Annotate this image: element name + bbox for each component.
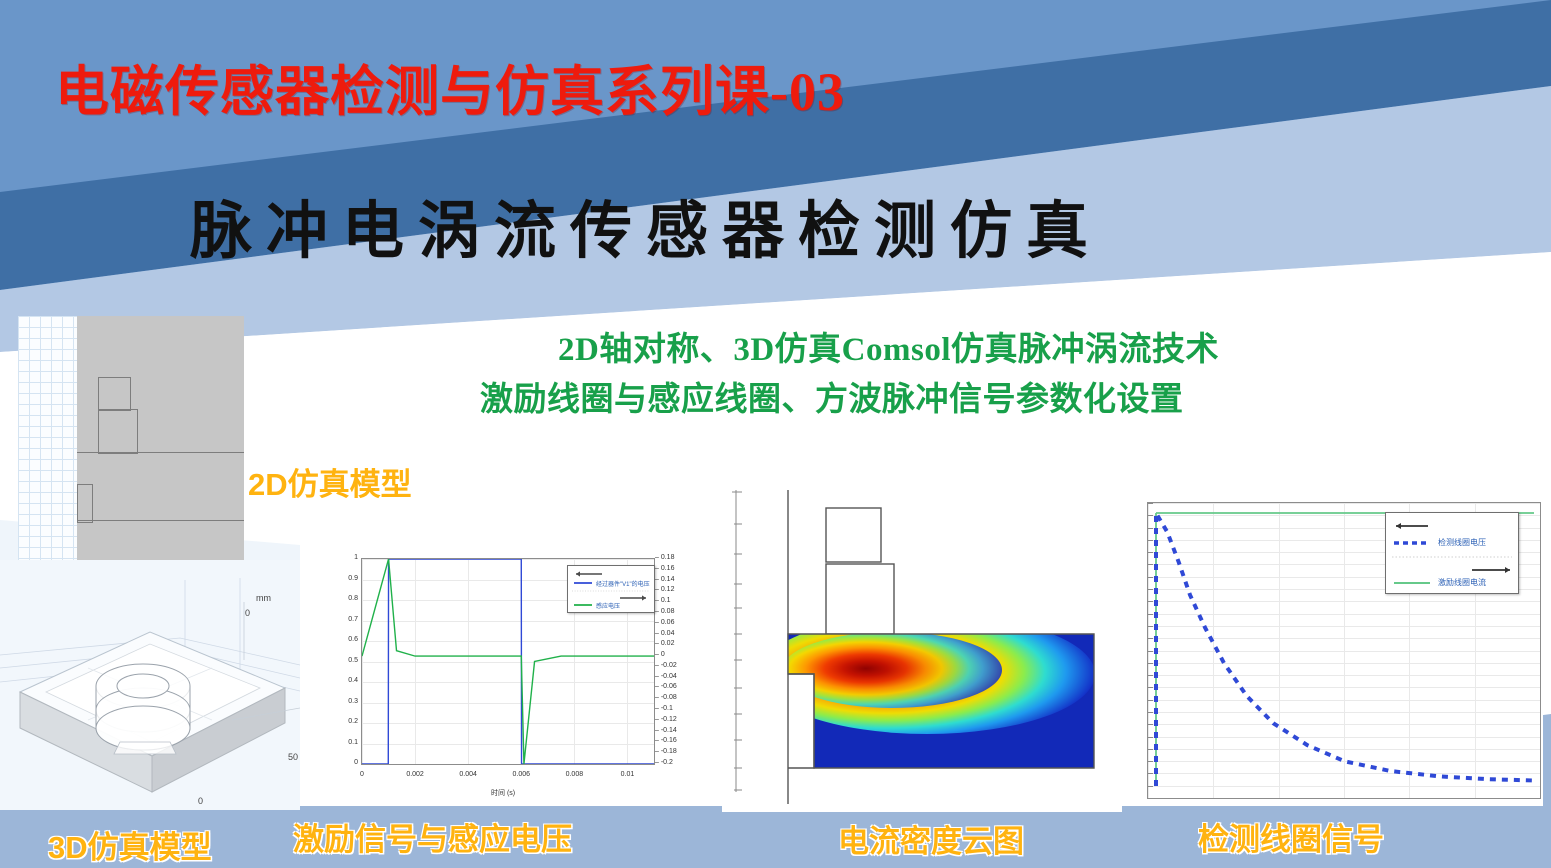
- chart-detection-coil: 检测线圈电压 激励线圈电流: [1133, 496, 1543, 806]
- excitation-legend-label-v1: 经过器件"V1"的电压: [596, 579, 650, 588]
- excitation-right-ytick: – 0.12: [655, 586, 674, 593]
- excitation-right-ytick: – 0.16: [655, 565, 674, 572]
- excitation-xtick: 0.008: [564, 771, 584, 778]
- gridline-vertical: [1540, 503, 1541, 798]
- excitation-right-ytick: – 0.1: [655, 597, 671, 604]
- gridline-horizontal: [362, 764, 654, 765]
- caption-2d-model: 2D仿真模型: [248, 459, 412, 504]
- excitation-right-ytick: – -0.1: [655, 705, 673, 712]
- coil-box-upper: [98, 377, 131, 411]
- excitation-left-ytick: 0.8: [337, 595, 358, 602]
- axis-unit-label-mm: mm: [256, 593, 271, 603]
- panel-2d-model: [18, 316, 244, 562]
- axis-tick-bottom-0: 0: [198, 796, 203, 806]
- excitation-right-ytick: – 0: [655, 651, 665, 658]
- detection-legend-label-voltage: 检测线圈电压: [1438, 537, 1486, 548]
- excitation-xaxis-label: 时间 (s): [491, 788, 515, 798]
- excitation-left-ytick: 0.6: [337, 636, 358, 643]
- axis-tick-top-0: 0: [245, 608, 250, 618]
- excitation-right-ytick: – -0.14: [655, 727, 677, 734]
- excitation-legend: 经过器件"V1"的电压 感应电压: [567, 565, 655, 613]
- excitation-right-ytick: – 0.04: [655, 630, 674, 637]
- excitation-left-ytick: 1: [337, 554, 358, 561]
- ytick-mark: [1148, 798, 1153, 799]
- excitation-right-ytick: – -0.2: [655, 759, 673, 766]
- excitation-right-ytick: – 0.08: [655, 608, 674, 615]
- coil-box-lower: [98, 409, 138, 454]
- chart-excitation-signal: 时间 (s) 经过器件"V1"的电压 感应电压 00.0020.0040.006…: [331, 551, 715, 801]
- excitation-right-ytick: – -0.04: [655, 673, 677, 680]
- subtitle-line-2: 激励线圈与感应线圈、方波脉冲信号参数化设置: [480, 372, 1184, 420]
- page-subtitle: 脉冲电涡流传感器检测仿真: [190, 180, 1102, 270]
- excitation-left-ytick: 0.3: [337, 698, 358, 705]
- poster-canvas: 电磁传感器检测与仿真系列课-03 脉冲电涡流传感器检测仿真 2D轴对称、3D仿真…: [0, 0, 1551, 868]
- detection-legend-label-current: 激励线圈电流: [1438, 577, 1486, 588]
- excitation-right-ytick: – -0.08: [655, 694, 677, 701]
- excitation-right-ytick: – -0.06: [655, 683, 677, 690]
- excitation-xtick: 0.002: [405, 771, 425, 778]
- excitation-legend-label-induced: 感应电压: [596, 601, 620, 610]
- boundary-line-2: [77, 520, 244, 521]
- page-title: 电磁传感器检测与仿真系列课-03: [55, 47, 845, 126]
- excitation-right-ytick: – -0.18: [655, 748, 677, 755]
- mesh-grid-background: [18, 316, 78, 562]
- excitation-left-ytick: 0.2: [337, 718, 358, 725]
- excitation-left-ytick: 0.7: [337, 616, 358, 623]
- excitation-left-ytick: 0: [337, 759, 358, 766]
- excitation-right-ytick: – 0.02: [655, 640, 674, 647]
- subtitle-line-1: 2D轴对称、3D仿真Comsol仿真脉冲涡流技术: [558, 322, 1219, 370]
- excitation-xtick: 0.004: [458, 771, 478, 778]
- excitation-left-ytick: 0.1: [337, 739, 358, 746]
- excitation-right-ytick: – 0.14: [655, 576, 674, 583]
- defect-box: [77, 484, 93, 523]
- excitation-right-ytick: – 0.06: [655, 619, 674, 626]
- caption-current-density: 电流密度云图: [838, 816, 1024, 861]
- excitation-right-ytick: – -0.12: [655, 716, 677, 723]
- panel-3d-model: mm 0 50 0: [0, 560, 300, 810]
- excitation-left-ytick: 0.4: [337, 677, 358, 684]
- excitation-left-ytick: 0.5: [337, 657, 358, 664]
- excitation-xtick: 0.006: [511, 771, 531, 778]
- axis-tick-right-50: 50: [288, 752, 298, 762]
- caption-3d-model: 3D仿真模型: [48, 822, 212, 867]
- excitation-left-ytick: 0.9: [337, 575, 358, 582]
- gridline-horizontal: [1148, 798, 1540, 799]
- excitation-right-ytick: – -0.02: [655, 662, 677, 669]
- excitation-xtick: 0.01: [617, 771, 637, 778]
- excitation-xtick: 0: [352, 771, 372, 778]
- caption-detection-coil: 检测线圈信号: [1198, 814, 1384, 859]
- detection-legend: 检测线圈电压 激励线圈电流: [1385, 512, 1519, 594]
- excitation-right-ytick: – -0.16: [655, 737, 677, 744]
- excitation-right-ytick: – 0.18: [655, 554, 674, 561]
- panel-current-density: [722, 462, 1122, 812]
- caption-excitation: 激励信号与感应电压: [293, 814, 572, 859]
